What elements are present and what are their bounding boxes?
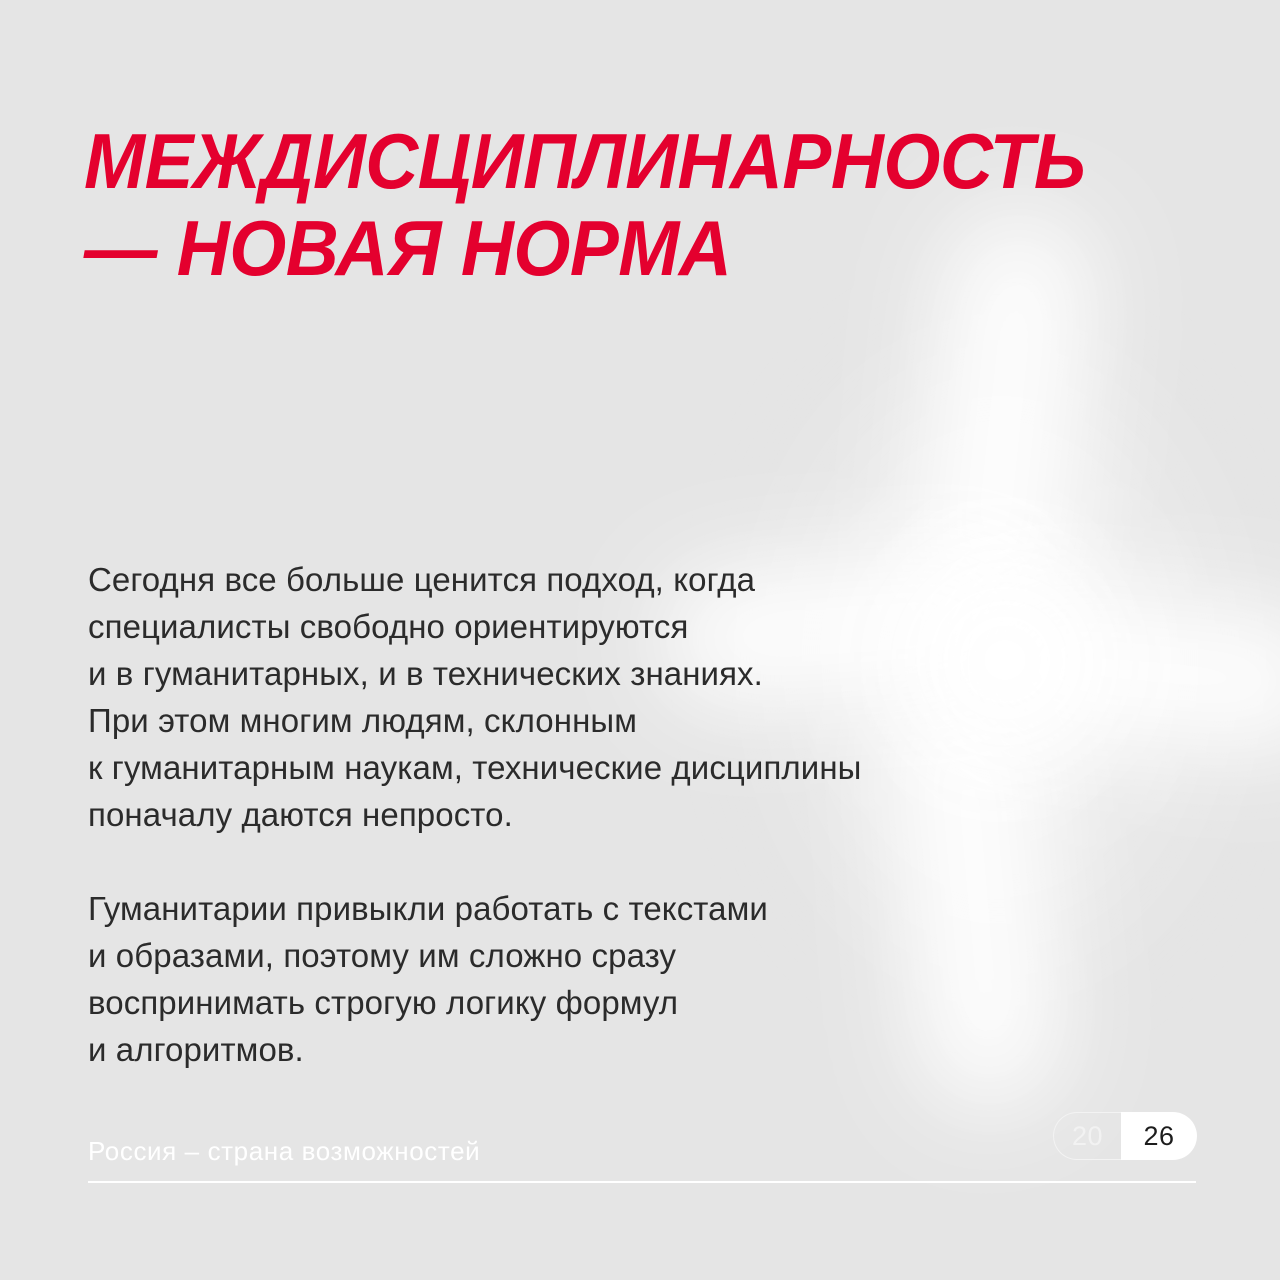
page-badge-current: 26	[1121, 1112, 1197, 1160]
footer-divider	[88, 1181, 1196, 1183]
page-badge-prefix: 20	[1053, 1112, 1121, 1160]
page-number-badge: 20 26	[1053, 1112, 1197, 1160]
slide-content: МЕЖДИСЦИПЛИНАРНОСТЬ — НОВАЯ НОРМА Сегодн…	[0, 0, 1280, 1280]
footer-brand-label: Россия – страна возможностей	[88, 1136, 480, 1167]
body-paragraph-2: Гуманитарии привыкли работать с текстами…	[88, 885, 1098, 1073]
body-paragraph-1: Сегодня все больше ценится подход, когда…	[88, 556, 1098, 838]
slide-canvas: МЕЖДИСЦИПЛИНАРНОСТЬ — НОВАЯ НОРМА Сегодн…	[0, 0, 1280, 1280]
body-copy: Сегодня все больше ценится подход, когда…	[88, 556, 1098, 1073]
page-title: МЕЖДИСЦИПЛИНАРНОСТЬ — НОВАЯ НОРМА	[84, 118, 1146, 293]
